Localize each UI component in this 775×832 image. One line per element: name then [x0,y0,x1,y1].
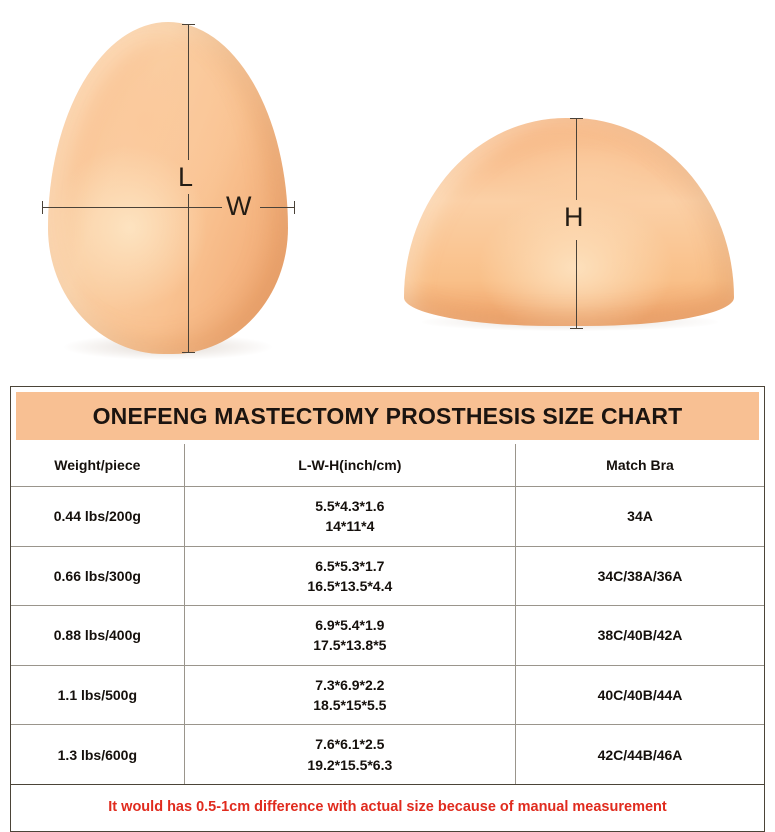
cell-dimensions: 5.5*4.3*1.6 14*11*4 [184,487,515,547]
measurement-note: It would has 0.5-1cm difference with act… [17,799,758,815]
cell-weight: 1.3 lbs/600g [11,725,184,785]
product-illustration-area: L W H [0,0,775,380]
width-line-right [260,207,294,208]
width-label: W [226,193,251,220]
table-row: 0.44 lbs/200g 5.5*4.3*1.6 14*11*4 34A [11,487,764,547]
cell-dimensions-inch: 6.9*5.4*1.9 [189,615,511,635]
length-label: L [178,164,193,191]
table-row: 0.88 lbs/400g 6.9*5.4*1.9 17.5*13.8*5 38… [11,606,764,666]
cell-dimensions-cm: 18.5*15*5.5 [189,695,511,715]
column-header-dimensions: L-W-H(inch/cm) [184,444,515,487]
height-label: H [564,204,584,231]
cell-weight: 0.66 lbs/300g [11,546,184,606]
length-line-lower [188,194,189,352]
front-view-prosthesis: L W [48,22,288,354]
cell-match-bra: 40C/40B/44A [516,665,765,725]
height-line-upper [576,118,577,200]
side-view-prosthesis: H [404,118,734,326]
cell-dimensions-inch: 7.3*6.9*2.2 [189,675,511,695]
cell-dimensions-cm: 19.2*15.5*6.3 [189,755,511,775]
measurement-note-row: It would has 0.5-1cm difference with act… [11,784,764,831]
length-tick-bottom [182,352,195,353]
cell-weight: 1.1 lbs/500g [11,665,184,725]
size-chart-table: Weight/piece L-W-H(inch/cm) Match Bra 0.… [11,444,764,831]
chart-title-band: ONEFENG MASTECTOMY PROSTHESIS SIZE CHART [16,392,759,440]
measurement-note-cell: It would has 0.5-1cm difference with act… [11,784,764,831]
table-row: 1.3 lbs/600g 7.6*6.1*2.5 19.2*15.5*6.3 4… [11,725,764,785]
cell-dimensions-inch: 7.6*6.1*2.5 [189,734,511,754]
cell-dimensions-cm: 14*11*4 [189,516,511,536]
width-line-left [42,207,222,208]
column-header-match-bra: Match Bra [516,444,765,487]
cell-dimensions: 6.9*5.4*1.9 17.5*13.8*5 [184,606,515,666]
table-header-row: Weight/piece L-W-H(inch/cm) Match Bra [11,444,764,487]
cell-dimensions-cm: 16.5*13.5*4.4 [189,576,511,596]
height-line-lower [576,240,577,328]
cell-dimensions-inch: 6.5*5.3*1.7 [189,556,511,576]
cell-match-bra: 42C/44B/46A [516,725,765,785]
cell-match-bra: 34C/38A/36A [516,546,765,606]
cell-dimensions-cm: 17.5*13.8*5 [189,635,511,655]
height-tick-bottom [570,328,583,329]
cell-match-bra: 34A [516,487,765,547]
cell-weight: 0.88 lbs/400g [11,606,184,666]
cell-dimensions: 7.6*6.1*2.5 19.2*15.5*6.3 [184,725,515,785]
cell-weight: 0.44 lbs/200g [11,487,184,547]
size-chart: ONEFENG MASTECTOMY PROSTHESIS SIZE CHART… [10,386,765,832]
cell-match-bra: 38C/40B/42A [516,606,765,666]
front-view-body [48,22,288,354]
length-line-upper [188,24,189,160]
cell-dimensions: 6.5*5.3*1.7 16.5*13.5*4.4 [184,546,515,606]
column-header-weight: Weight/piece [11,444,184,487]
chart-title: ONEFENG MASTECTOMY PROSTHESIS SIZE CHART [93,403,683,430]
table-row: 0.66 lbs/300g 6.5*5.3*1.7 16.5*13.5*4.4 … [11,546,764,606]
width-tick-right [294,201,295,214]
cell-dimensions-inch: 5.5*4.3*1.6 [189,496,511,516]
table-row: 1.1 lbs/500g 7.3*6.9*2.2 18.5*15*5.5 40C… [11,665,764,725]
cell-dimensions: 7.3*6.9*2.2 18.5*15*5.5 [184,665,515,725]
